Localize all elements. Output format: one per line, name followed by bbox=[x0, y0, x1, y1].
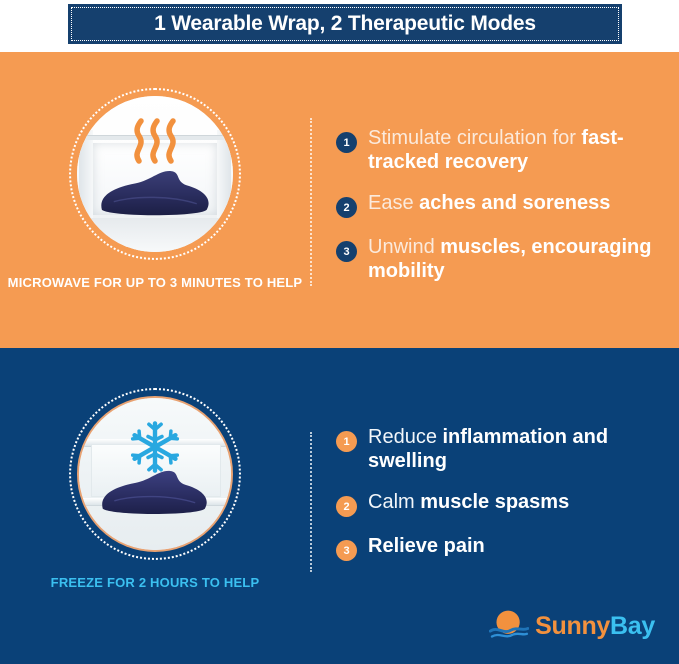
hot-benefit-list: 1 Stimulate circulation for fast-tracked… bbox=[310, 52, 679, 348]
hot-caption: MICROWAVE FOR UP TO 3 MINUTES TO HELP bbox=[8, 274, 303, 292]
bullet-text: Reduce inflammation and swelling bbox=[368, 426, 661, 473]
brand-name-bay: Bay bbox=[610, 612, 655, 640]
microwave-floor bbox=[77, 218, 233, 252]
hot-media-column: MICROWAVE FOR UP TO 3 MINUTES TO HELP bbox=[0, 52, 310, 348]
bullet-lead-text: Ease bbox=[368, 192, 419, 214]
bullet-bold-text: Relieve pain bbox=[368, 535, 485, 557]
microwave-left-wall bbox=[79, 130, 93, 220]
list-item: 3 Unwind muscles, encouraging mobility bbox=[336, 236, 661, 283]
bullet-lead-text: Calm bbox=[368, 491, 420, 513]
brand-name-sunny: Sunny bbox=[535, 612, 610, 640]
bullet-number-badge: 2 bbox=[336, 197, 357, 218]
bullet-number-badge: 3 bbox=[336, 241, 357, 262]
bullet-number-badge: 2 bbox=[336, 496, 357, 517]
cold-caption: FREEZE FOR 2 HOURS TO HELP bbox=[51, 574, 260, 592]
bullet-text: Calm muscle spasms bbox=[368, 491, 569, 515]
header-band: 1 Wearable Wrap, 2 Therapeutic Modes bbox=[0, 0, 679, 52]
freezer-image bbox=[77, 396, 233, 552]
infographic-page: 1 Wearable Wrap, 2 Therapeutic Modes bbox=[0, 0, 679, 664]
header-banner: 1 Wearable Wrap, 2 Therapeutic Modes bbox=[68, 4, 622, 44]
list-item: 1 Reduce inflammation and swelling bbox=[336, 426, 661, 473]
cold-therapy-section: FREEZE FOR 2 HOURS TO HELP 1 Reduce infl… bbox=[0, 348, 679, 664]
list-item: 3 Relieve pain bbox=[336, 535, 661, 561]
hot-therapy-section: MICROWAVE FOR UP TO 3 MINUTES TO HELP 1 … bbox=[0, 52, 679, 348]
bullet-bold-text: aches and soreness bbox=[419, 192, 610, 214]
list-item: 2 Calm muscle spasms bbox=[336, 491, 661, 517]
bullet-bold-text: muscle spasms bbox=[420, 491, 569, 513]
bullet-number-badge: 1 bbox=[336, 431, 357, 452]
list-item: 1 Stimulate circulation for fast-tracked… bbox=[336, 127, 661, 174]
bullet-number-badge: 1 bbox=[336, 132, 357, 153]
navy-wrap-icon bbox=[96, 165, 215, 218]
page-title: 1 Wearable Wrap, 2 Therapeutic Modes bbox=[154, 12, 536, 36]
bullet-lead-text: Stimulate circulation for bbox=[368, 127, 581, 149]
steam-waves-icon bbox=[130, 118, 180, 169]
bullet-text: Ease aches and soreness bbox=[368, 192, 610, 216]
navy-wrap-icon bbox=[97, 465, 213, 517]
brand-logo: SunnyBay bbox=[489, 607, 655, 646]
freezer-photo-circle bbox=[69, 388, 241, 560]
list-item: 2 Ease aches and soreness bbox=[336, 192, 661, 218]
microwave-photo-circle bbox=[69, 88, 241, 260]
microwave-right-wall bbox=[217, 130, 231, 220]
bullet-text: Stimulate circulation for fast-tracked r… bbox=[368, 127, 661, 174]
bullet-text: Relieve pain bbox=[368, 535, 485, 559]
brand-name: SunnyBay bbox=[535, 612, 655, 641]
cold-media-column: FREEZE FOR 2 HOURS TO HELP bbox=[0, 348, 310, 664]
bullet-text: Unwind muscles, encouraging mobility bbox=[368, 236, 661, 283]
sun-over-waves-icon bbox=[489, 607, 529, 646]
bullet-number-badge: 3 bbox=[336, 540, 357, 561]
bullet-lead-text: Reduce bbox=[368, 426, 443, 448]
bullet-lead-text: Unwind bbox=[368, 236, 440, 258]
microwave-image bbox=[77, 96, 233, 252]
